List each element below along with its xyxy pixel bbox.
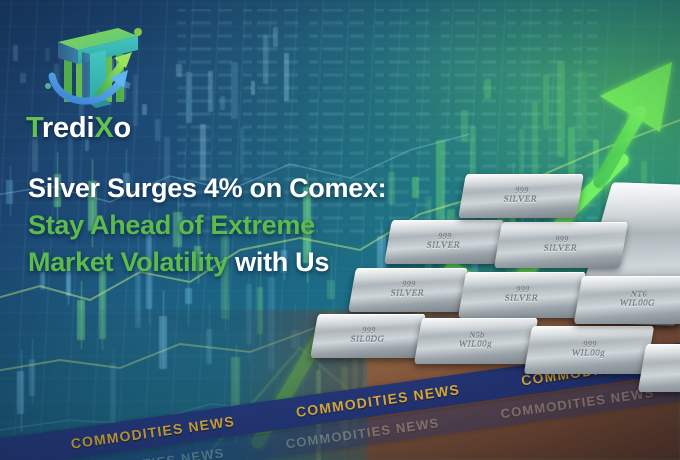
silver-bar: 999 SILVER bbox=[348, 268, 468, 312]
silver-bar: NT6 WIL00G bbox=[574, 276, 680, 324]
brand-logo[interactable]: TrediXo bbox=[22, 18, 172, 145]
silver-bar: 999 WIL00g bbox=[638, 344, 680, 392]
bar-stamp-metal: SILVER bbox=[543, 244, 578, 253]
bar-stamp-metal: SILVER bbox=[503, 195, 538, 204]
headline-line-2: Stay Ahead of Extreme bbox=[28, 207, 448, 244]
bar-stamp-metal: SILVER bbox=[426, 241, 461, 250]
bar-stamp-metal: WIL00g bbox=[458, 340, 493, 349]
bar-stamp-metal: SIL0DG bbox=[349, 335, 385, 344]
wordmark-part-t: T bbox=[26, 112, 42, 144]
silver-bar: 999 SILVER bbox=[384, 220, 504, 264]
wordmark-part-x: X bbox=[94, 112, 113, 144]
bar-stamp-metal: SILVER bbox=[504, 294, 539, 303]
headline-block: Silver Surges 4% on Comex: Stay Ahead of… bbox=[28, 170, 448, 281]
wordmark-part-o: o bbox=[113, 112, 131, 144]
headline-line-3-tail: with Us bbox=[228, 247, 329, 277]
silver-bar: N5b WIL00g bbox=[414, 318, 538, 364]
trendixo-3d-t-with-arrow-logo-icon bbox=[34, 18, 154, 110]
promo-poster: 0; bbox=[0, 0, 680, 460]
brand-wordmark: TrediXo bbox=[26, 112, 172, 145]
silver-bar: 999 SILVER bbox=[458, 272, 586, 318]
silver-bar: 999 SIL0DG bbox=[310, 314, 426, 358]
silver-bar: 999 SILVER bbox=[494, 222, 628, 268]
bar-stamp-metal: WIL00G bbox=[619, 299, 656, 308]
bar-stamp-metal: SILVER bbox=[390, 289, 425, 298]
silver-bar: 999 WIL00g bbox=[524, 326, 654, 374]
wordmark-part-redi: redi bbox=[42, 112, 94, 144]
headline-line-3-accent: Market Volatility bbox=[28, 247, 228, 277]
bar-stamp-metal: WIL00g bbox=[571, 349, 606, 358]
silver-bar: 999 SILVER bbox=[458, 174, 584, 218]
headline-line-1: Silver Surges 4% on Comex: bbox=[28, 170, 448, 207]
